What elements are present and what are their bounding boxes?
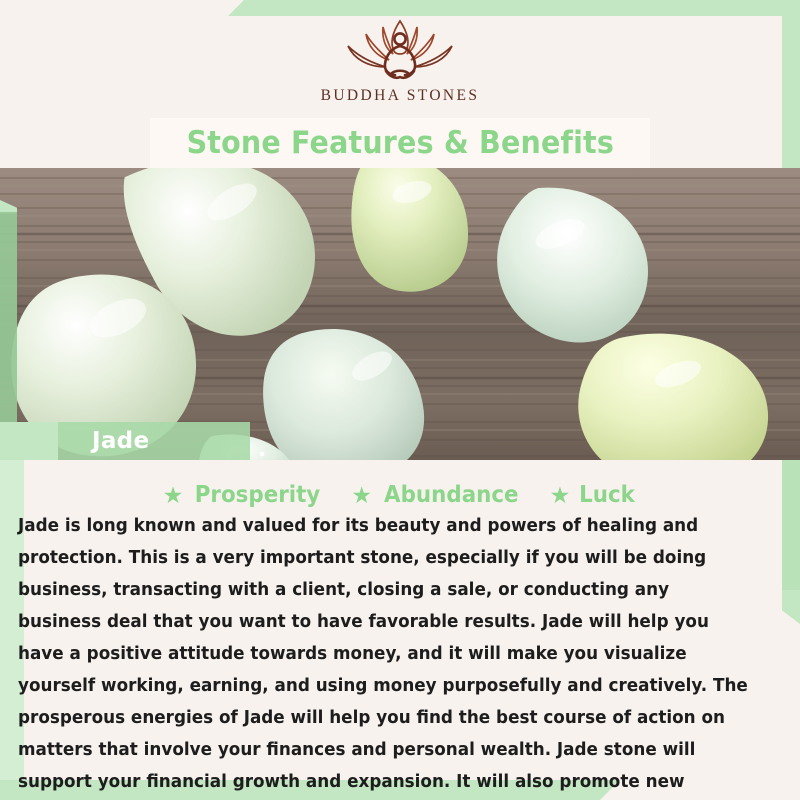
benefit-item-abundance: ★ Abundance <box>351 482 523 508</box>
benefit-item-prosperity: ★ Prosperity <box>163 482 326 508</box>
decor-left-green-block <box>0 422 58 460</box>
page-title: Stone Features & Benefits <box>186 125 613 161</box>
stone-name-label: Jade <box>92 428 149 454</box>
benefit-item-luck: ★ Luck <box>550 482 638 508</box>
benefit-label: Luck <box>579 482 635 508</box>
jade-stones-image <box>0 168 800 460</box>
stone-description: Jade is long known and valued for its be… <box>18 510 751 800</box>
benefit-label: Prosperity <box>195 482 321 508</box>
decor-left-green-bar <box>0 212 17 422</box>
star-icon: ★ <box>351 484 372 507</box>
stone-info-poster: BUDDHA STONES Stone Features & Benefits <box>0 0 800 800</box>
star-icon: ★ <box>550 484 571 507</box>
brand-logo-block: BUDDHA STONES <box>0 0 800 120</box>
brand-name: BUDDHA STONES <box>321 87 480 105</box>
lotus-meditation-icon <box>336 15 464 83</box>
benefit-label: Abundance <box>384 482 518 508</box>
stone-photo <box>0 168 800 460</box>
decor-right-green-tail <box>782 590 800 624</box>
benefits-row: ★ Prosperity ★ Abundance ★ Luck <box>0 478 800 512</box>
star-icon: ★ <box>163 484 184 507</box>
page-title-band: Stone Features & Benefits <box>150 118 650 168</box>
